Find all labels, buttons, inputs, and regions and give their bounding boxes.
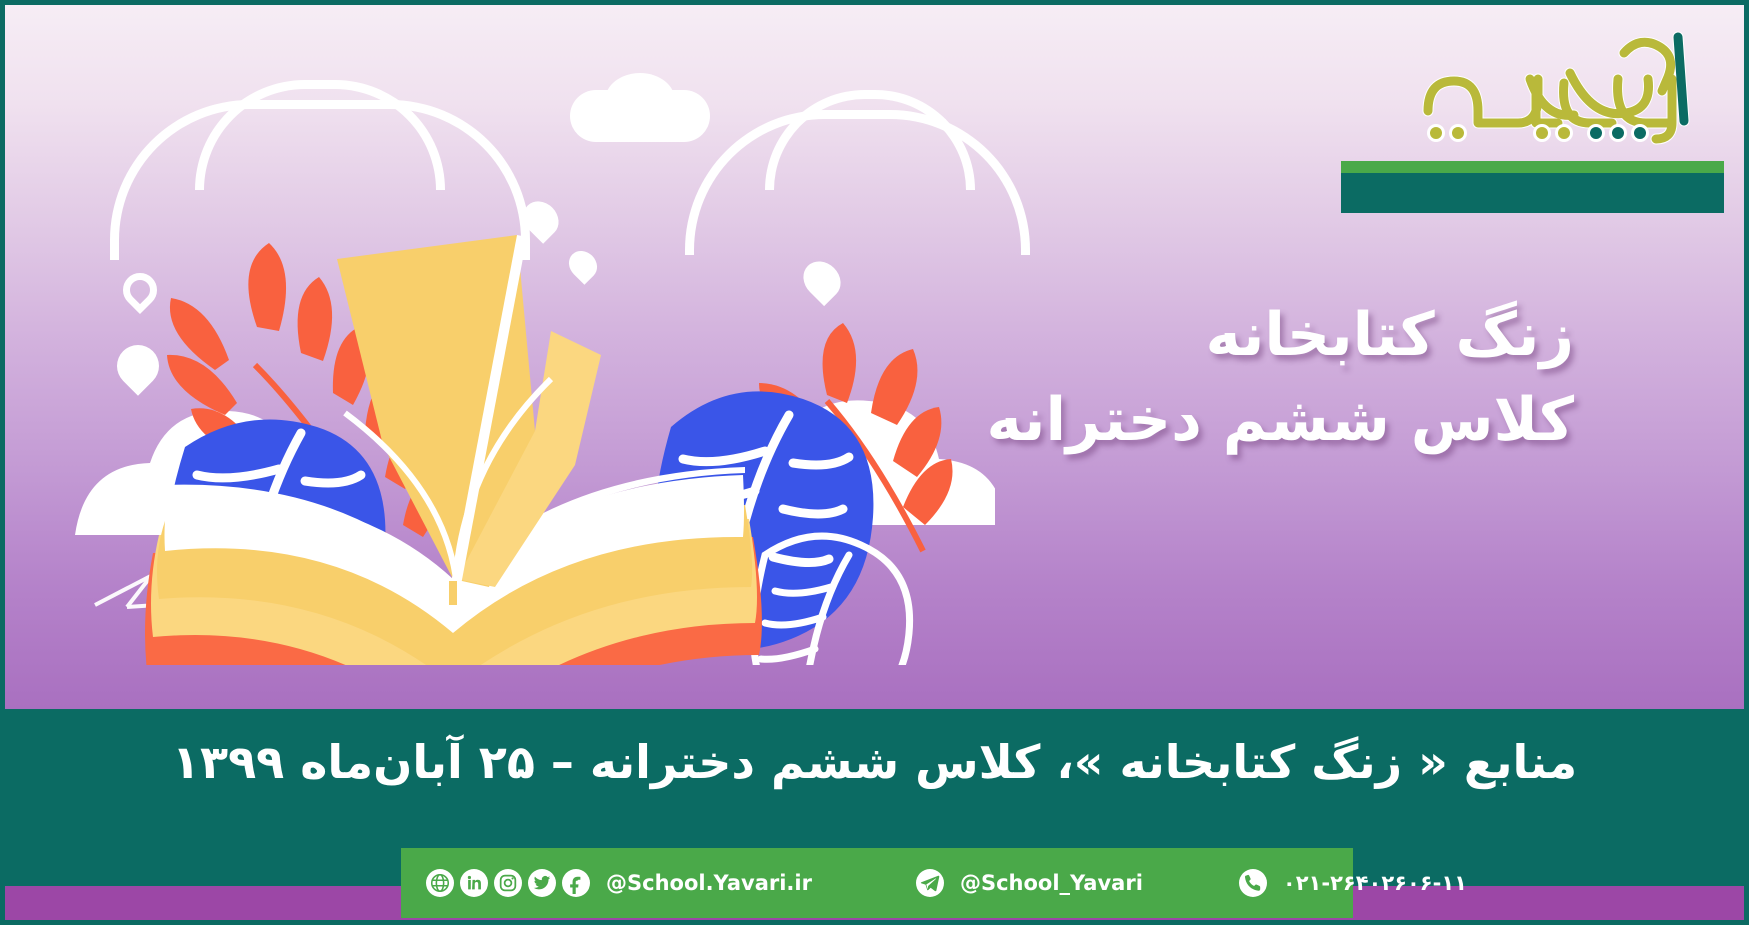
- open-book-illustration: [65, 235, 995, 665]
- telegram-icon[interactable]: [916, 869, 944, 897]
- hero-title-line1: زنگ کتابخانه: [987, 293, 1574, 378]
- logo-underline-teal: [1341, 173, 1724, 213]
- twitter-icon[interactable]: [528, 869, 556, 897]
- cloud-outline-left-bump: [195, 80, 445, 190]
- phone-number-text[interactable]: ۰۲۱-۲۶۴۰۲۶۰۶-۱۱: [1283, 871, 1467, 895]
- facebook-icon[interactable]: [562, 869, 590, 897]
- hero-title-line2: کلاس ششم دخترانه: [987, 378, 1574, 463]
- logo-wordmark: [1410, 27, 1710, 142]
- instagram-icon[interactable]: [494, 869, 522, 897]
- social-group-site: @School.Yavari.ir: [426, 869, 812, 897]
- site-handle-text[interactable]: @School.Yavari.ir: [606, 871, 812, 895]
- hero-stage: زنگ کتابخانه کلاس ششم دخترانه: [5, 5, 1744, 709]
- banner: زنگ کتابخانه کلاس ششم دخترانه: [0, 0, 1749, 925]
- site-logo[interactable]: [1324, 13, 1724, 213]
- phone-icon[interactable]: [1239, 869, 1267, 897]
- book-spine: [449, 581, 457, 605]
- linkedin-icon[interactable]: [460, 869, 488, 897]
- hero-title: زنگ کتابخانه کلاس ششم دخترانه: [987, 293, 1574, 463]
- footer-caption: منابع « زنگ کتابخانه »، کلاس ششم دخترانه…: [5, 735, 1744, 789]
- telegram-handle-text[interactable]: @School_Yavari: [960, 871, 1143, 895]
- globe-icon[interactable]: [426, 869, 454, 897]
- cloud-solid-small-top-bump: [605, 73, 675, 128]
- social-group-telegram: @School_Yavari: [916, 869, 1143, 897]
- logo-underline-green: [1341, 161, 1724, 173]
- social-group-phone: ۰۲۱-۲۶۴۰۲۶۰۶-۱۱: [1239, 869, 1467, 897]
- logo-dots: [1427, 124, 1649, 142]
- social-contact-bar: @School.Yavari.ir @School_Yavari ۰۲۱-۲۶۴…: [401, 848, 1353, 918]
- cloud-outline-right-bump: [765, 90, 975, 190]
